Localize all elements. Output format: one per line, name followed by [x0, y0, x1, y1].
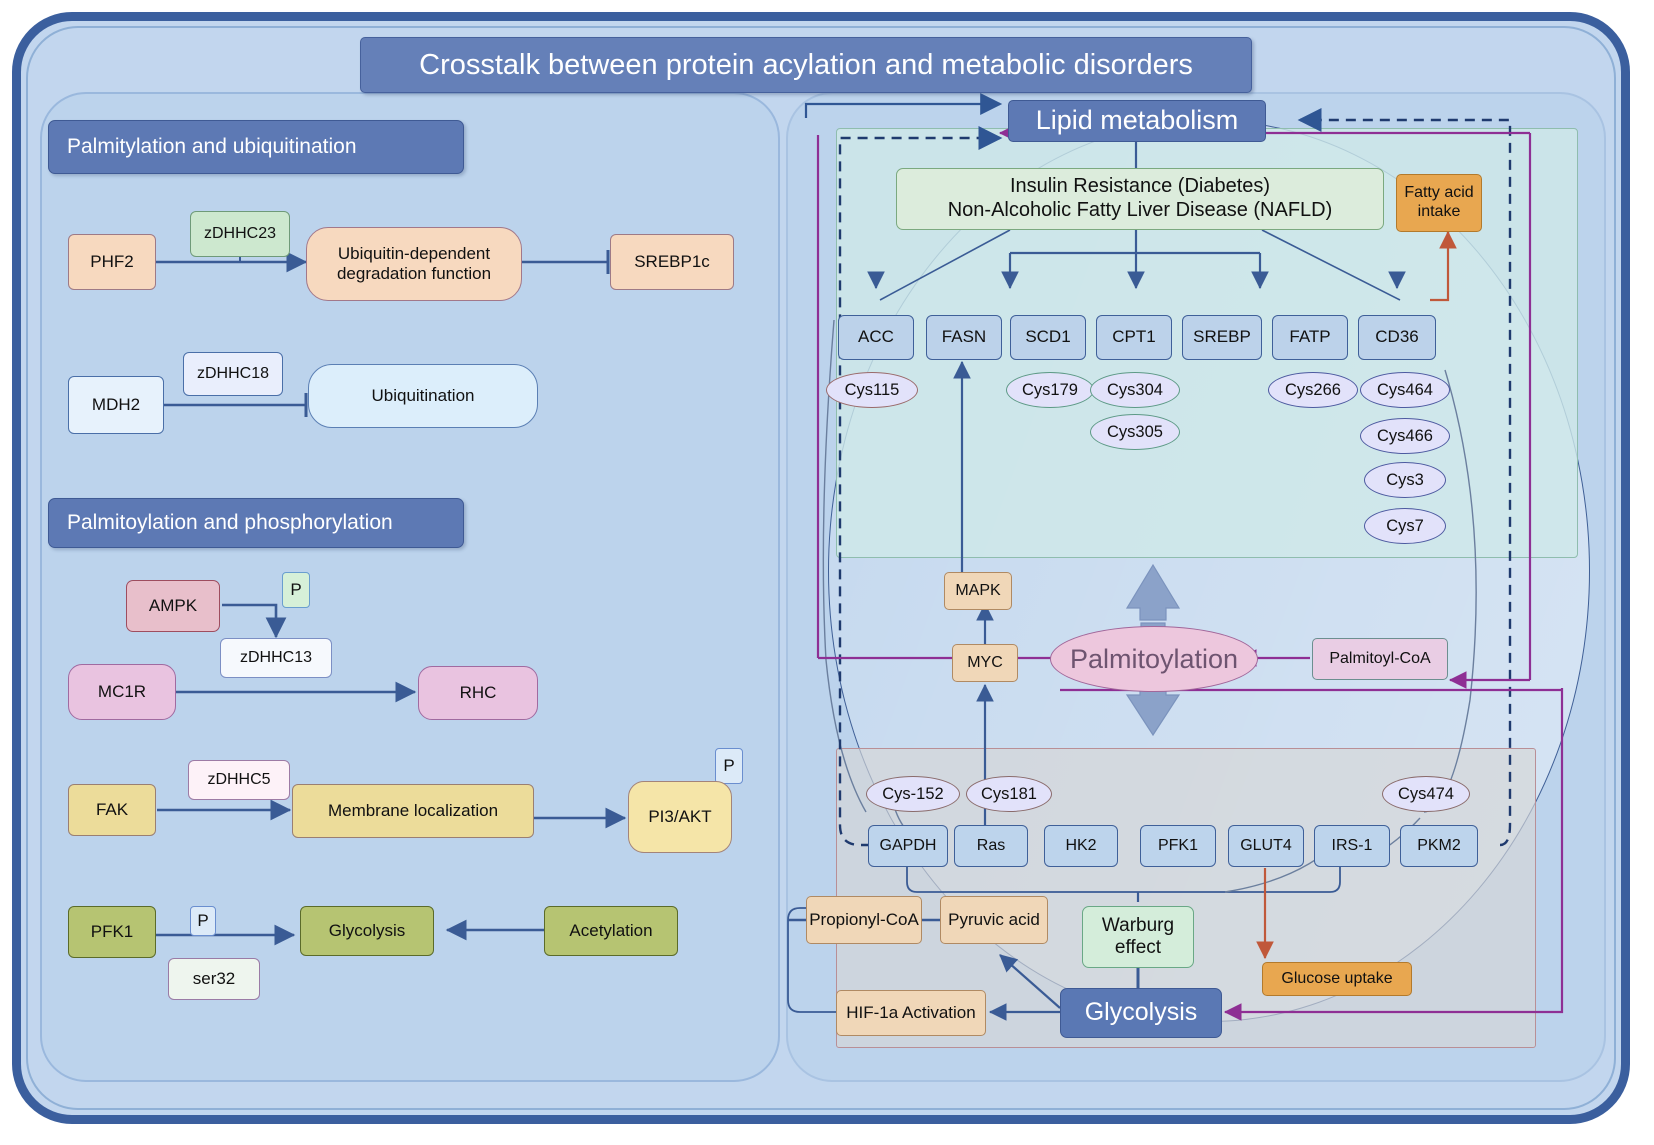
node-ubiquitin-dependent-degradation[interactable]: Ubiquitin-dependent degradation function — [306, 227, 522, 301]
cys-label-cys266: Cys266 — [1268, 372, 1358, 408]
node-rhc[interactable]: RHC — [418, 666, 538, 720]
node-cd36[interactable]: CD36 — [1358, 315, 1436, 360]
node-glycolysis-right[interactable]: Glycolysis — [1060, 988, 1222, 1038]
node-hk2[interactable]: HK2 — [1044, 825, 1118, 867]
cys-label-cys466: Cys466 — [1360, 418, 1450, 454]
cys-label-cys464: Cys464 — [1360, 372, 1450, 408]
node-irs1[interactable]: IRS-1 — [1314, 825, 1390, 867]
page-title: Crosstalk between protein acylation and … — [360, 37, 1252, 93]
node-glucose-uptake[interactable]: Glucose uptake — [1262, 962, 1412, 996]
node-ubiquitination[interactable]: Ubiquitination — [308, 364, 538, 428]
node-acetylation[interactable]: Acetylation — [544, 906, 678, 956]
node-pfk1-right[interactable]: PFK1 — [1140, 825, 1216, 867]
node-mc1r[interactable]: MC1R — [68, 664, 176, 720]
cys-label-cys304: Cys304 — [1090, 372, 1180, 408]
insulin-line-2: Non-Alcoholic Fatty Liver Disease (NAFLD… — [948, 199, 1333, 223]
node-pi3-akt[interactable]: PI3/AKT — [628, 781, 732, 853]
cys-label-cys305: Cys305 — [1090, 414, 1180, 450]
node-zdhhc5[interactable]: zDHHC5 — [188, 760, 290, 800]
node-palmitoyl-coa[interactable]: Palmitoyl-CoA — [1312, 638, 1448, 680]
node-ampk[interactable]: AMPK — [126, 580, 220, 632]
node-pyruvic-acid[interactable]: Pyruvic acid — [940, 896, 1048, 944]
node-myc[interactable]: MYC — [952, 644, 1018, 682]
node-lipid-metabolism[interactable]: Lipid metabolism — [1008, 100, 1266, 142]
node-fasn[interactable]: FASN — [926, 315, 1002, 360]
node-ser32[interactable]: ser32 — [168, 958, 260, 1000]
node-zdhhc23[interactable]: zDHHC23 — [190, 211, 290, 257]
node-pkm2[interactable]: PKM2 — [1400, 825, 1478, 867]
section-header-palmitylation-ubiquitination: Palmitylation and ubiquitination — [48, 120, 464, 174]
node-mdh2[interactable]: MDH2 — [68, 376, 164, 434]
section-header-palmitoylation-phosphorylation: Palmitoylation and phosphorylation — [48, 498, 464, 548]
node-glycolysis-left[interactable]: Glycolysis — [300, 906, 434, 956]
node-mapk[interactable]: MAPK — [944, 572, 1012, 610]
phosphate-badge-2: P — [715, 748, 743, 784]
phosphate-badge-1: P — [282, 572, 310, 608]
node-srebp1c[interactable]: SREBP1c — [610, 234, 734, 290]
phosphate-badge-3: P — [190, 906, 216, 936]
cys-label-cys152: Cys-152 — [866, 776, 960, 812]
cys-label-cys181: Cys181 — [966, 776, 1052, 812]
node-warburg-effect[interactable]: Warburg effect — [1082, 906, 1194, 968]
node-cpt1[interactable]: CPT1 — [1096, 315, 1172, 360]
node-fatp[interactable]: FATP — [1272, 315, 1348, 360]
cys-label-cys179: Cys179 — [1006, 372, 1094, 408]
node-fak[interactable]: FAK — [68, 784, 156, 836]
node-zdhhc18[interactable]: zDHHC18 — [183, 352, 283, 396]
node-membrane-localization[interactable]: Membrane localization — [292, 784, 534, 838]
insulin-line-1: Insulin Resistance (Diabetes) — [1010, 175, 1270, 199]
node-scd1[interactable]: SCD1 — [1010, 315, 1086, 360]
node-ras[interactable]: Ras — [954, 825, 1028, 867]
node-hif1a-activation[interactable]: HIF-1a Activation — [836, 990, 986, 1036]
node-insulin-resistance-nafld[interactable]: Insulin Resistance (Diabetes) Non-Alcoho… — [896, 168, 1384, 230]
cys-label-cys3: Cys3 — [1364, 462, 1446, 498]
node-zdhhc13[interactable]: zDHHC13 — [220, 638, 332, 678]
node-pfk1-left[interactable]: PFK1 — [68, 906, 156, 958]
node-propionyl-coa[interactable]: Propionyl-CoA — [806, 896, 922, 944]
node-glut4[interactable]: GLUT4 — [1228, 825, 1304, 867]
cys-label-cys115: Cys115 — [826, 372, 918, 408]
cys-label-cys474: Cys474 — [1382, 776, 1470, 812]
diagram-canvas: Crosstalk between protein acylation and … — [0, 0, 1654, 1145]
node-phf2[interactable]: PHF2 — [68, 234, 156, 290]
node-fatty-acid-intake[interactable]: Fatty acid intake — [1396, 174, 1482, 232]
node-srebp[interactable]: SREBP — [1182, 315, 1262, 360]
node-gapdh[interactable]: GAPDH — [868, 825, 948, 867]
cys-label-cys7: Cys7 — [1364, 508, 1446, 544]
node-acc[interactable]: ACC — [838, 315, 914, 360]
node-palmitoylation[interactable]: Palmitoylation — [1050, 626, 1258, 692]
